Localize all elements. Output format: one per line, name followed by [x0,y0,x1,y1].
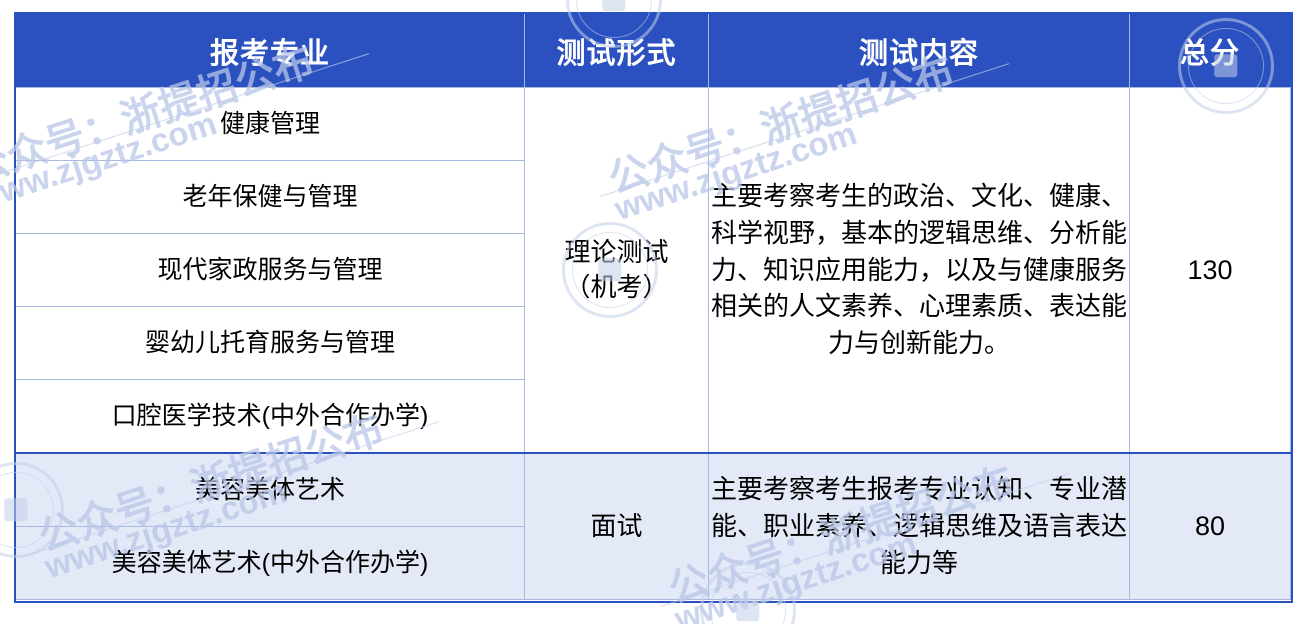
table-row: 健康管理 理论测试 （机考） 主要考察考生的政治、文化、健康、科学视野，基本的逻… [16,88,1291,161]
header-row: 报考专业 测试形式 测试内容 总分 [16,14,1291,88]
major-name-cell: 美容美体艺术 [16,453,525,527]
test-content-cell: 主要考察考生报考专业认知、专业潜能、职业素养、逻辑思维及语言表达能力等 [709,453,1130,600]
major-name-cell: 美容美体艺术(中外合作办学) [16,527,525,600]
major-name-cell: 口腔医学技术(中外合作办学) [16,380,525,454]
major-name-cell: 健康管理 [16,88,525,161]
test-form-line-2: （机考） [525,270,708,305]
column-header-content: 测试内容 [709,14,1130,88]
table-header: 报考专业 测试形式 测试内容 总分 [16,14,1291,88]
exam-requirements-table: 报考专业 测试形式 测试内容 总分 健康管理 理论测试 （机考） 主要考察考生的… [15,13,1291,600]
major-name-cell: 老年保健与管理 [16,161,525,234]
test-form-cell: 理论测试 （机考） [525,88,709,454]
table-body: 健康管理 理论测试 （机考） 主要考察考生的政治、文化、健康、科学视野，基本的逻… [16,88,1291,600]
exam-table-container: 报考专业 测试形式 测试内容 总分 健康管理 理论测试 （机考） 主要考察考生的… [15,13,1290,600]
major-name-cell: 婴幼儿托育服务与管理 [16,307,525,380]
column-header-score: 总分 [1130,14,1291,88]
column-header-major: 报考专业 [16,14,525,88]
major-name-cell: 现代家政服务与管理 [16,234,525,307]
total-score-cell: 130 [1130,88,1291,454]
test-content-cell: 主要考察考生的政治、文化、健康、科学视野，基本的逻辑思维、分析能力、知识应用能力… [709,88,1130,454]
test-form-cell: 面试 [525,453,709,600]
total-score-cell: 80 [1130,453,1291,600]
test-form-line-1: 理论测试 [525,235,708,270]
test-form-line-1: 面试 [525,509,708,544]
table-row: 美容美体艺术 面试 主要考察考生报考专业认知、专业潜能、职业素养、逻辑思维及语言… [16,453,1291,527]
column-header-form: 测试形式 [525,14,709,88]
